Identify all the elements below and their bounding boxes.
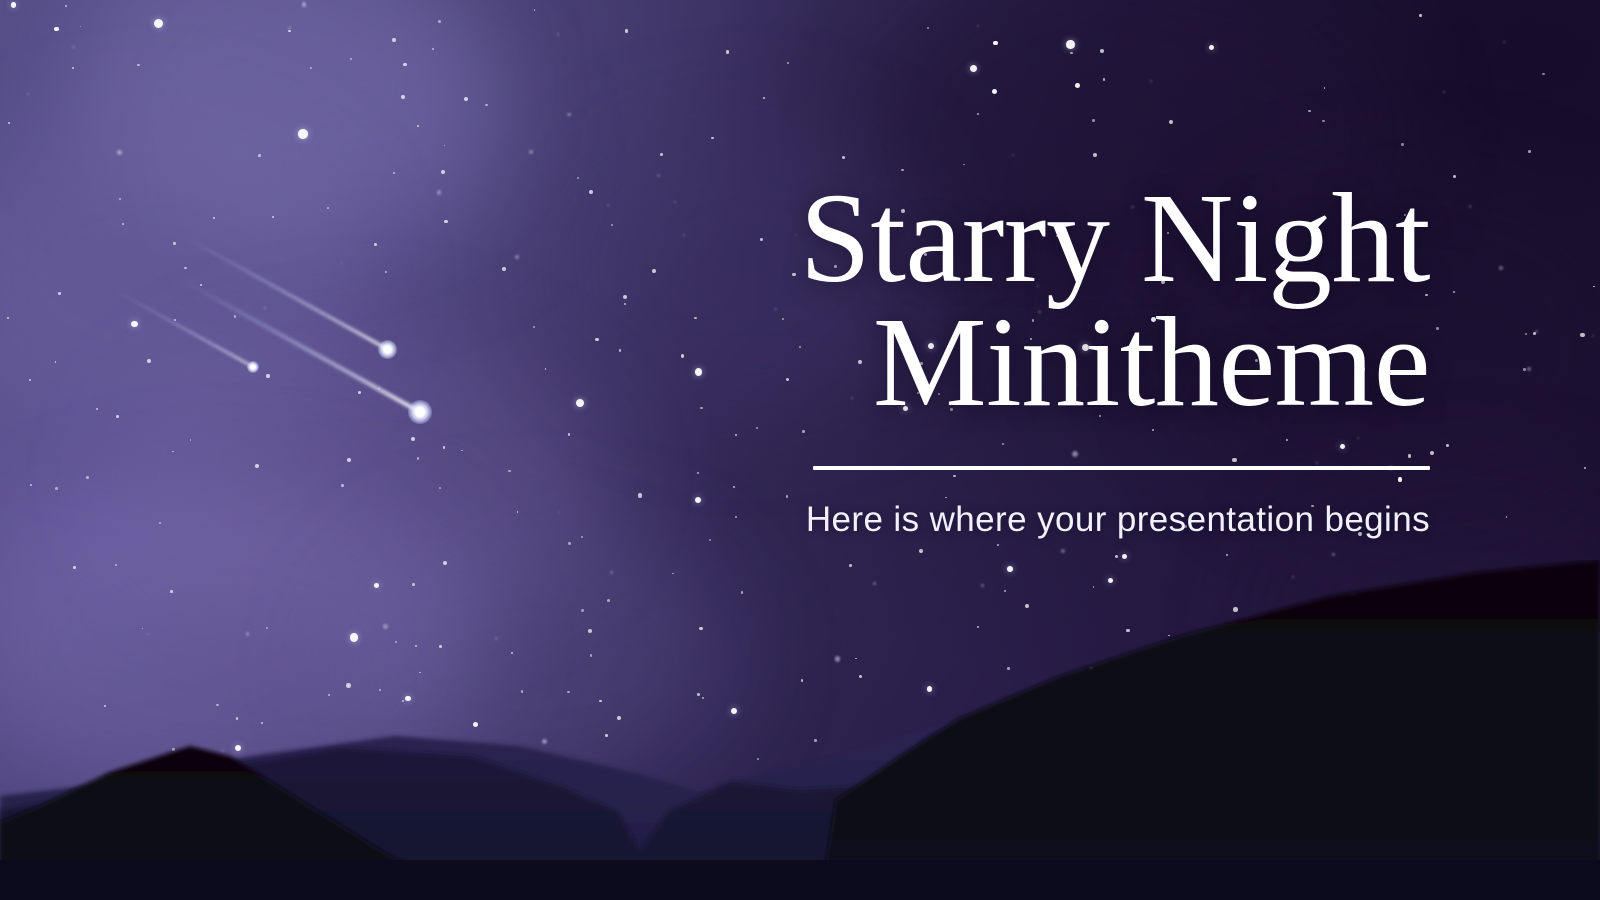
title-divider-rule — [813, 466, 1430, 470]
page-title-line-1: Starry Night — [640, 176, 1430, 300]
presentation-slide: Starry Night Minitheme Here is where you… — [0, 0, 1600, 900]
mountain-silhouettes — [0, 560, 1600, 900]
mountain-base — [0, 860, 1600, 900]
subtitle-text: Here is where your presentation begins — [640, 500, 1430, 540]
mountain-svg — [0, 560, 1600, 900]
title-block: Starry Night Minitheme Here is where you… — [640, 176, 1430, 540]
page-title-line-2: Minitheme — [640, 300, 1430, 424]
